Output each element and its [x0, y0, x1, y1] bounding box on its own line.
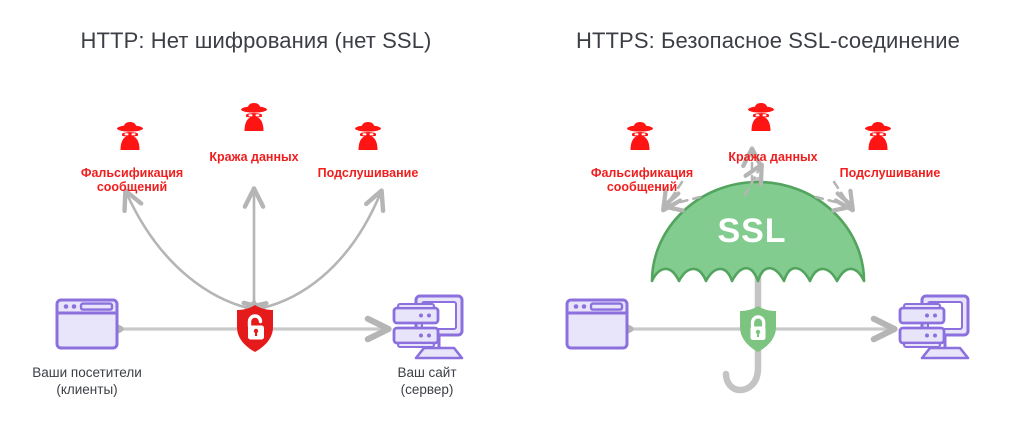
panel-title-http: HTTP: Нет шифрования (нет SSL) — [0, 28, 512, 54]
panel-http: HTTP: Нет шифрования (нет SSL) Фальсифик… — [0, 0, 512, 424]
endpoint-client-caption-http: Ваши посетители (клиенты) — [7, 364, 167, 398]
threat-label-eavesdropping-https: Подслушивание — [810, 152, 970, 194]
endpoint-client-http: Ваши посетители (клиенты) — [7, 358, 167, 398]
panel-title-https: HTTPS: Безопасное SSL-соединение — [512, 28, 1024, 54]
threat-label-eavesdropping-http: Подслушивание — [288, 152, 448, 194]
endpoint-server-caption-http: Ваш сайт (сервер) — [347, 364, 507, 398]
umbrella-ssl-label: SSL — [662, 212, 842, 251]
diagram-stage: HTTP: Нет шифрования (нет SSL) Фальсифик… — [0, 0, 1024, 424]
endpoint-server-http: Ваш сайт (сервер) — [347, 358, 507, 398]
